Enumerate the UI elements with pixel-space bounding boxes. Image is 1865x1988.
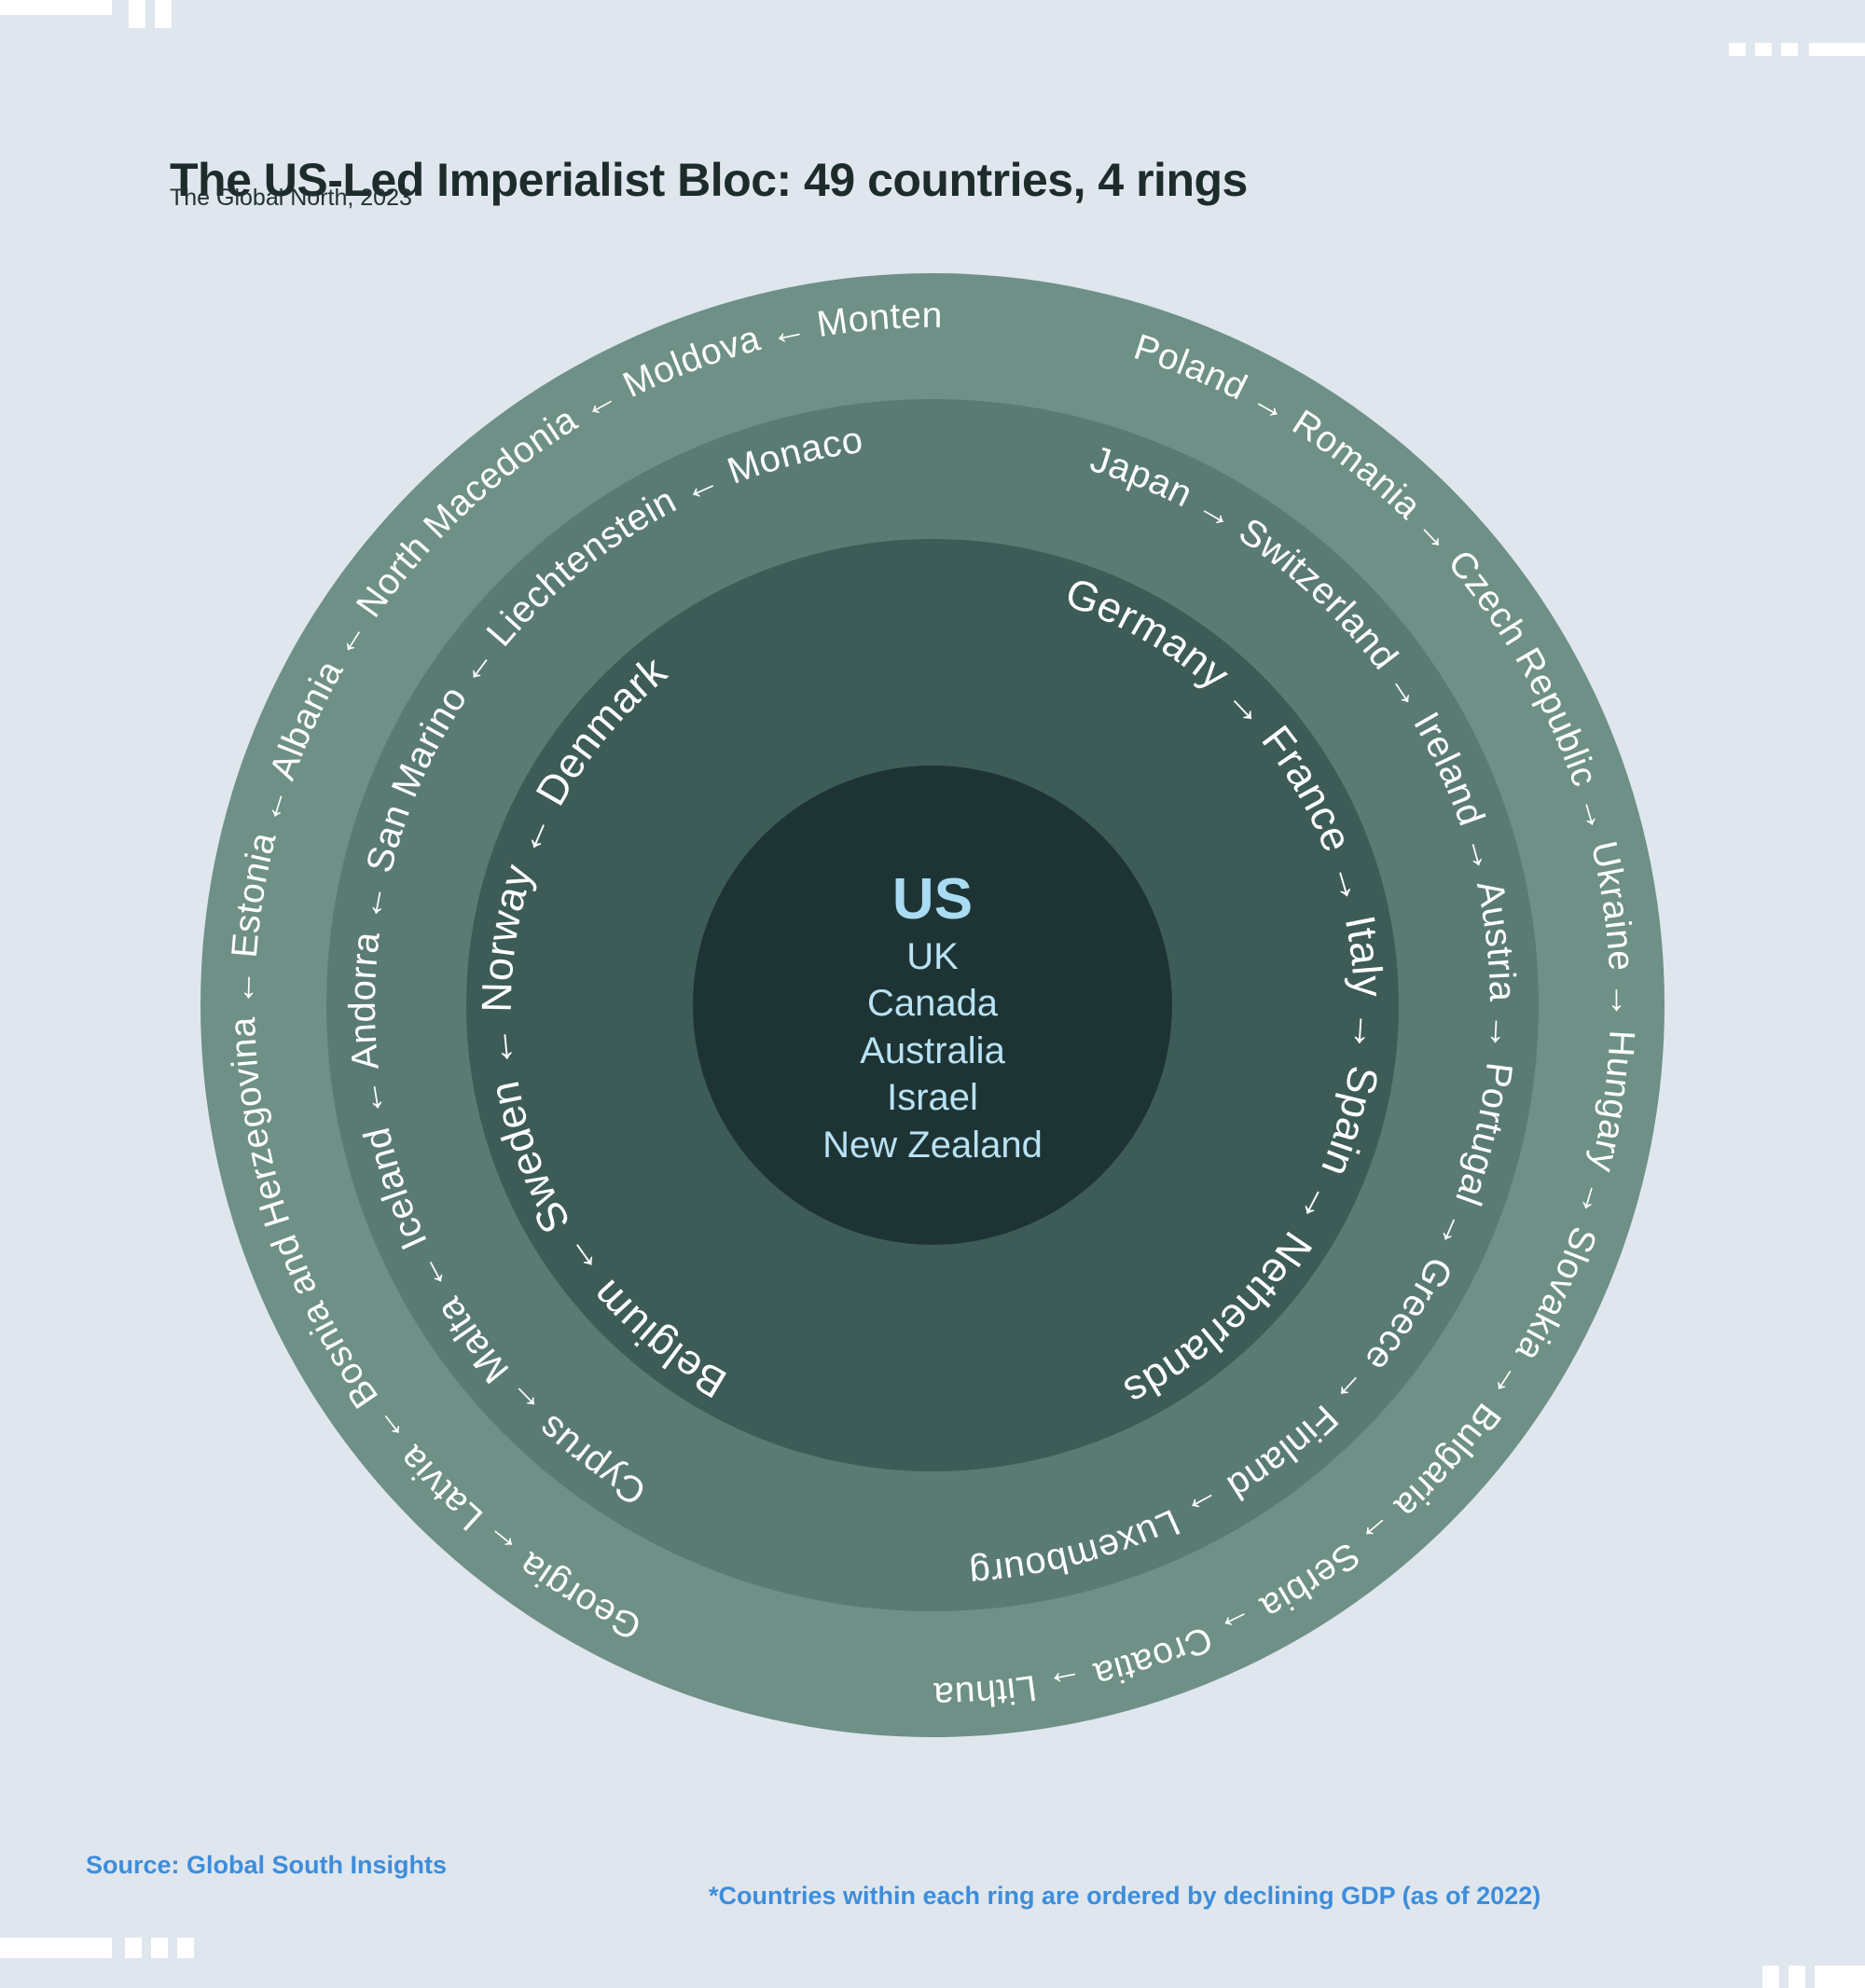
deco-top-right-tick-1	[1809, 43, 1865, 56]
core-item-uk: UK	[0, 933, 1865, 980]
deco-bottom-left-tick-2	[151, 1938, 168, 1958]
deco-bottom-left-bar	[0, 1938, 112, 1958]
core-item-canada: Canada	[0, 980, 1865, 1027]
deco-top-left-tick-1	[129, 0, 145, 28]
deco-bottom-left-tick-1	[125, 1938, 142, 1958]
core-item-new-zealand: New Zealand	[0, 1122, 1865, 1168]
source-label: Source: Global South Insights	[86, 1851, 447, 1880]
deco-bottom-left-tick-3	[177, 1938, 194, 1958]
deco-bottom-right-tick-1	[1762, 1966, 1779, 1988]
core-country-list: UK Canada Australia Israel New Zealand	[0, 933, 1865, 1168]
deco-bottom-right-bar	[1815, 1966, 1865, 1988]
core-title: US	[0, 866, 1865, 932]
footnote-label: *Countries within each ring are ordered …	[709, 1882, 1540, 1911]
deco-top-right-tick-2	[1781, 43, 1798, 56]
page-subtitle: The Global North, 2023	[170, 185, 412, 212]
deco-top-right-tick-3	[1755, 43, 1772, 56]
deco-top-left-tick-2	[155, 0, 172, 28]
core-item-israel: Israel	[0, 1074, 1865, 1121]
core-item-australia: Australia	[0, 1028, 1865, 1074]
concentric-rings-diagram: Poland → Romania → Czech Republic → Ukra…	[0, 224, 1865, 1790]
deco-top-right-tick-4	[1729, 43, 1746, 56]
deco-bottom-right-tick-2	[1789, 1966, 1805, 1988]
deco-top-left-bar	[0, 0, 112, 15]
